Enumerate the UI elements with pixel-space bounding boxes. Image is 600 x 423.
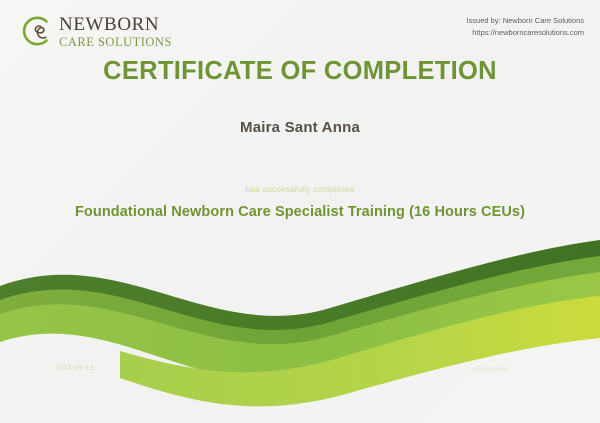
issuer-url[interactable]: https://newborncaresolutions.com bbox=[466, 27, 584, 39]
certificate-code: nmfaevhaxs bbox=[473, 366, 510, 373]
course-title: Foundational Newborn Care Specialist Tra… bbox=[0, 204, 600, 220]
issued-by-text: Issued by: Newborn Care Solutions bbox=[466, 15, 584, 27]
recipient-name: Maira Sant Anna bbox=[0, 119, 600, 136]
logo-text-newborn: NEWBORN bbox=[59, 15, 172, 34]
logo-text-care-solutions: CARE SOLUTIONS bbox=[59, 36, 172, 49]
certificate-title: CERTIFICATE OF COMPLETION bbox=[0, 57, 600, 86]
certificate-header: NEWBORN CARE SOLUTIONS Issued by: Newbor… bbox=[0, 0, 600, 56]
completion-statement: has successfully completed bbox=[0, 184, 600, 194]
newborn-care-solutions-swirl-logo-icon bbox=[16, 12, 54, 50]
brand-logo: NEWBORN CARE SOLUTIONS bbox=[16, 12, 172, 50]
issue-date: 2023-05-13 bbox=[55, 365, 94, 372]
certificate-document: NEWBORN CARE SOLUTIONS Issued by: Newbor… bbox=[0, 0, 600, 423]
issuer-info: Issued by: Newborn Care Solutions https:… bbox=[466, 12, 584, 38]
